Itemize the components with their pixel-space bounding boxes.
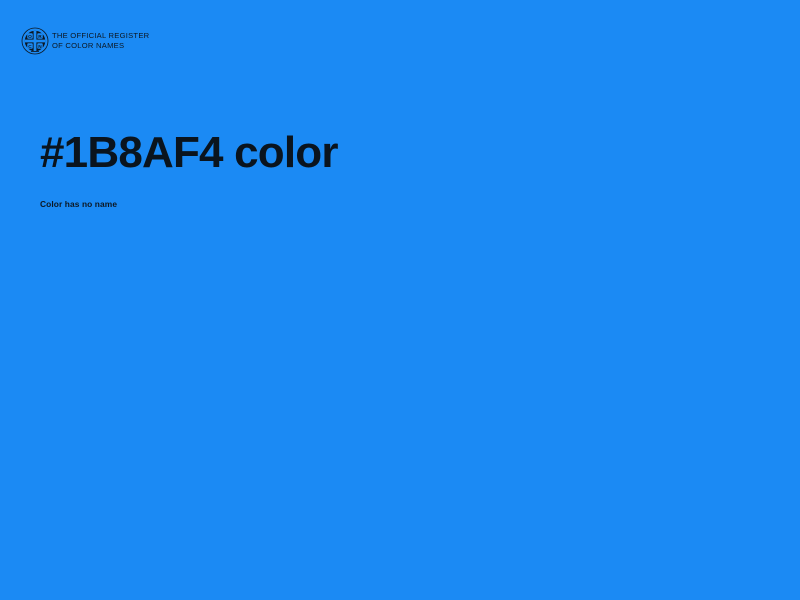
svg-text:O: O [28,34,32,40]
brand-wordmark-line1: THE OFFICIAL REGISTER [52,31,149,41]
brand-wordmark-line2: OF COLOR NAMES [52,41,149,51]
official-register-seal-icon: O R C N [21,27,49,55]
brand-wordmark: THE OFFICIAL REGISTER OF COLOR NAMES [52,31,149,50]
brand-logo[interactable]: O R C N THE OFFICIAL REGISTER OF COLOR N… [21,27,149,55]
color-swatch-area [0,230,800,600]
page-title: #1B8AF4 color [40,130,338,176]
svg-text:R: R [38,34,42,40]
svg-text:C: C [28,44,32,50]
svg-text:N: N [38,44,42,50]
color-name-status: Color has no name [40,198,117,210]
color-page: O R C N THE OFFICIAL REGISTER OF COLOR N… [0,0,800,600]
